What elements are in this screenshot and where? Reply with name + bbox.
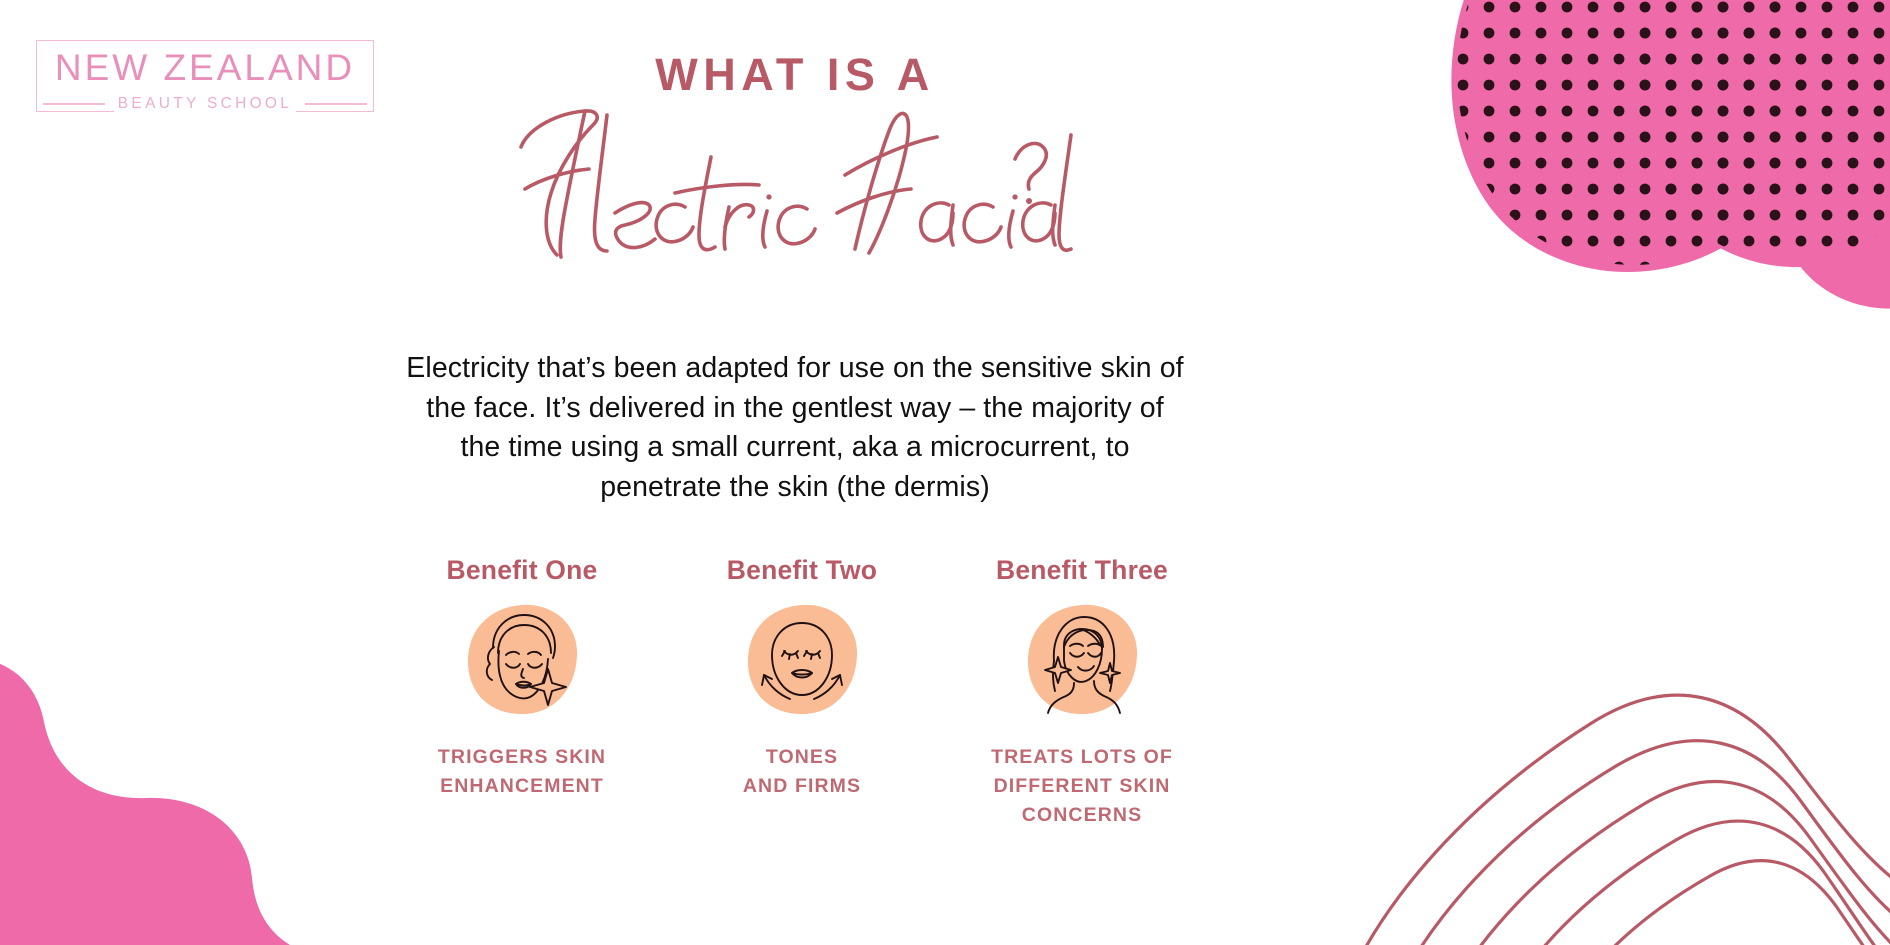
benefit-one-caption-line-2: ENHANCEMENT — [396, 772, 648, 801]
brand-logo-name: NEW ZEALAND — [37, 47, 373, 89]
top-right-blob-group — [1440, 0, 1890, 309]
benefit-three-title: Benefit Three — [956, 556, 1208, 585]
bottom-left-blob — [0, 657, 322, 945]
description-text: Electricity that’s been adapted for use … — [404, 349, 1186, 507]
benefit-one-title: Benefit One — [396, 556, 648, 585]
face-sparkle-icon — [464, 601, 580, 717]
benefit-two-caption: TONES AND FIRMS — [676, 743, 928, 801]
headline-block: WHAT IS A Electric Facial? — [390, 52, 1200, 269]
benefit-two-title: Benefit Two — [676, 556, 928, 585]
description-paragraph: Electricity that’s been adapted for use … — [404, 349, 1186, 507]
brand-logo-tagline: BEAUTY SCHOOL — [114, 95, 296, 113]
benefit-two-caption-line-2: AND FIRMS — [676, 772, 928, 801]
benefits-row: Benefit One — [396, 556, 1208, 830]
benefit-three-caption-line-1: TREATS LOTS OF — [956, 743, 1208, 772]
infographic-canvas: NEW ZEALAND BEAUTY SCHOOL WHAT IS A Elec… — [0, 0, 1890, 945]
brand-logo-tagline-row: BEAUTY SCHOOL — [28, 92, 382, 116]
benefit-card-two: Benefit Two — [676, 556, 928, 801]
woman-sparkles-icon — [1024, 601, 1140, 717]
bottom-right-contour-lines — [1340, 695, 1890, 945]
benefit-one-caption: TRIGGERS SKIN ENHANCEMENT — [396, 743, 648, 801]
logo-rule-left — [43, 103, 105, 104]
script-title: Electric Facial? — [390, 101, 1200, 269]
benefit-two-caption-line-1: TONES — [676, 743, 928, 772]
benefit-three-caption-line-3: CONCERNS — [956, 801, 1208, 830]
benefit-three-caption: TREATS LOTS OF DIFFERENT SKIN CONCERNS — [956, 743, 1208, 830]
benefit-one-caption-line-1: TRIGGERS SKIN — [396, 743, 648, 772]
logo-rule-right — [305, 103, 367, 104]
benefit-three-caption-line-2: DIFFERENT SKIN — [956, 772, 1208, 801]
face-lift-arrows-icon — [744, 601, 860, 717]
page-title-kicker: WHAT IS A — [390, 52, 1200, 97]
benefit-card-three: Benefit Three — [956, 556, 1208, 830]
benefit-card-one: Benefit One — [396, 556, 648, 801]
